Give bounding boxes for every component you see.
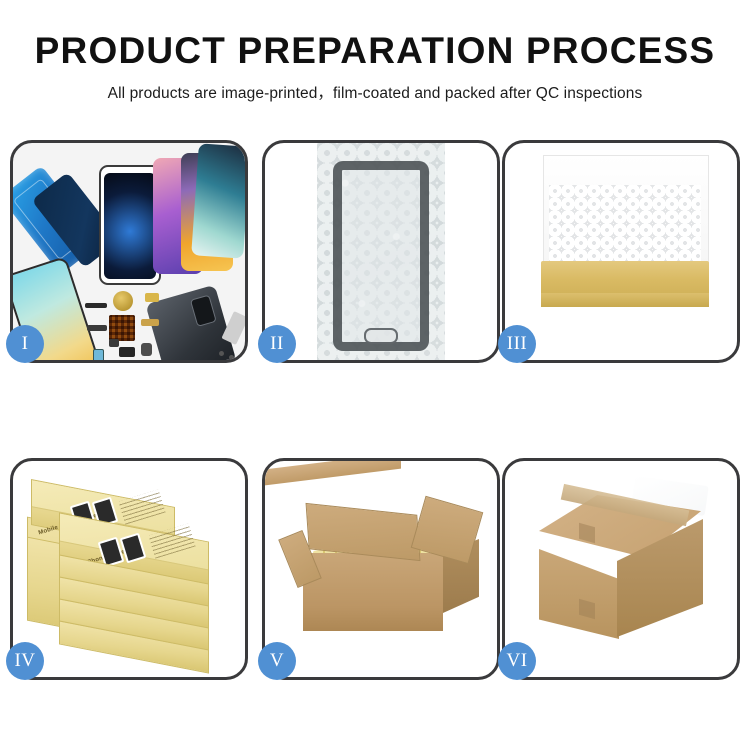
spare-part [109, 315, 135, 341]
step-badge-2: II [258, 325, 296, 363]
page-header: PRODUCT PREPARATION PROCESS All products… [0, 0, 750, 130]
spare-part [93, 349, 104, 360]
spare-part [119, 347, 135, 357]
step-badge-6: VI [498, 642, 536, 680]
phone-screen-white-frame [99, 165, 161, 285]
photo-bubble-wrapped-screen [265, 143, 497, 360]
step-badge-1: I [6, 325, 44, 363]
carton-front [303, 553, 443, 631]
page-title: PRODUCT PREPARATION PROCESS [0, 0, 750, 72]
page-subtitle: All products are image-printed，film-coat… [0, 72, 750, 103]
process-row-2: Mobile Phone Spare Parts Mobile Phone Sp… [0, 458, 750, 681]
spare-part [87, 325, 107, 331]
step-panel-1 [10, 140, 248, 363]
wrapped-screen [333, 161, 429, 351]
spare-part [113, 291, 133, 311]
process-row-1: I II III [0, 140, 750, 363]
spare-part [109, 339, 119, 347]
spare-part [229, 355, 234, 360]
process-grid: I II III Mobile Phone Spare Parts [0, 140, 750, 681]
kraft-box-front [541, 293, 709, 307]
spare-part [145, 293, 159, 302]
spare-part [85, 303, 107, 308]
phone-screen-teal [191, 143, 245, 258]
spare-part [219, 351, 224, 356]
box-stack: Mobile Phone Spare Parts Mobile Phone Sp… [21, 479, 245, 669]
spare-part [221, 311, 245, 345]
photo-stacked-retail-boxes: Mobile Phone Spare Parts Mobile Phone Sp… [13, 461, 245, 677]
step-panel-6 [502, 458, 740, 680]
photo-sealed-shipping-carton [505, 461, 737, 677]
photo-screen-in-open-kraft-box [505, 143, 737, 360]
step-badge-3: III [498, 325, 536, 363]
carton-flap-front [265, 461, 401, 485]
foam-padding [549, 185, 701, 263]
spare-part [141, 343, 152, 356]
step-panel-2 [262, 140, 500, 363]
step-panel-3 [502, 140, 740, 363]
step-badge-5: V [258, 642, 296, 680]
spare-part [141, 319, 159, 326]
step-panel-4: Mobile Phone Spare Parts Mobile Phone Sp… [10, 458, 248, 680]
photo-phone-screens-and-parts [13, 143, 245, 360]
step-panel-5 [262, 458, 500, 680]
step-badge-4: IV [6, 642, 44, 680]
photo-open-carton-with-boxes [265, 461, 497, 677]
phone-back-housing [145, 285, 236, 360]
